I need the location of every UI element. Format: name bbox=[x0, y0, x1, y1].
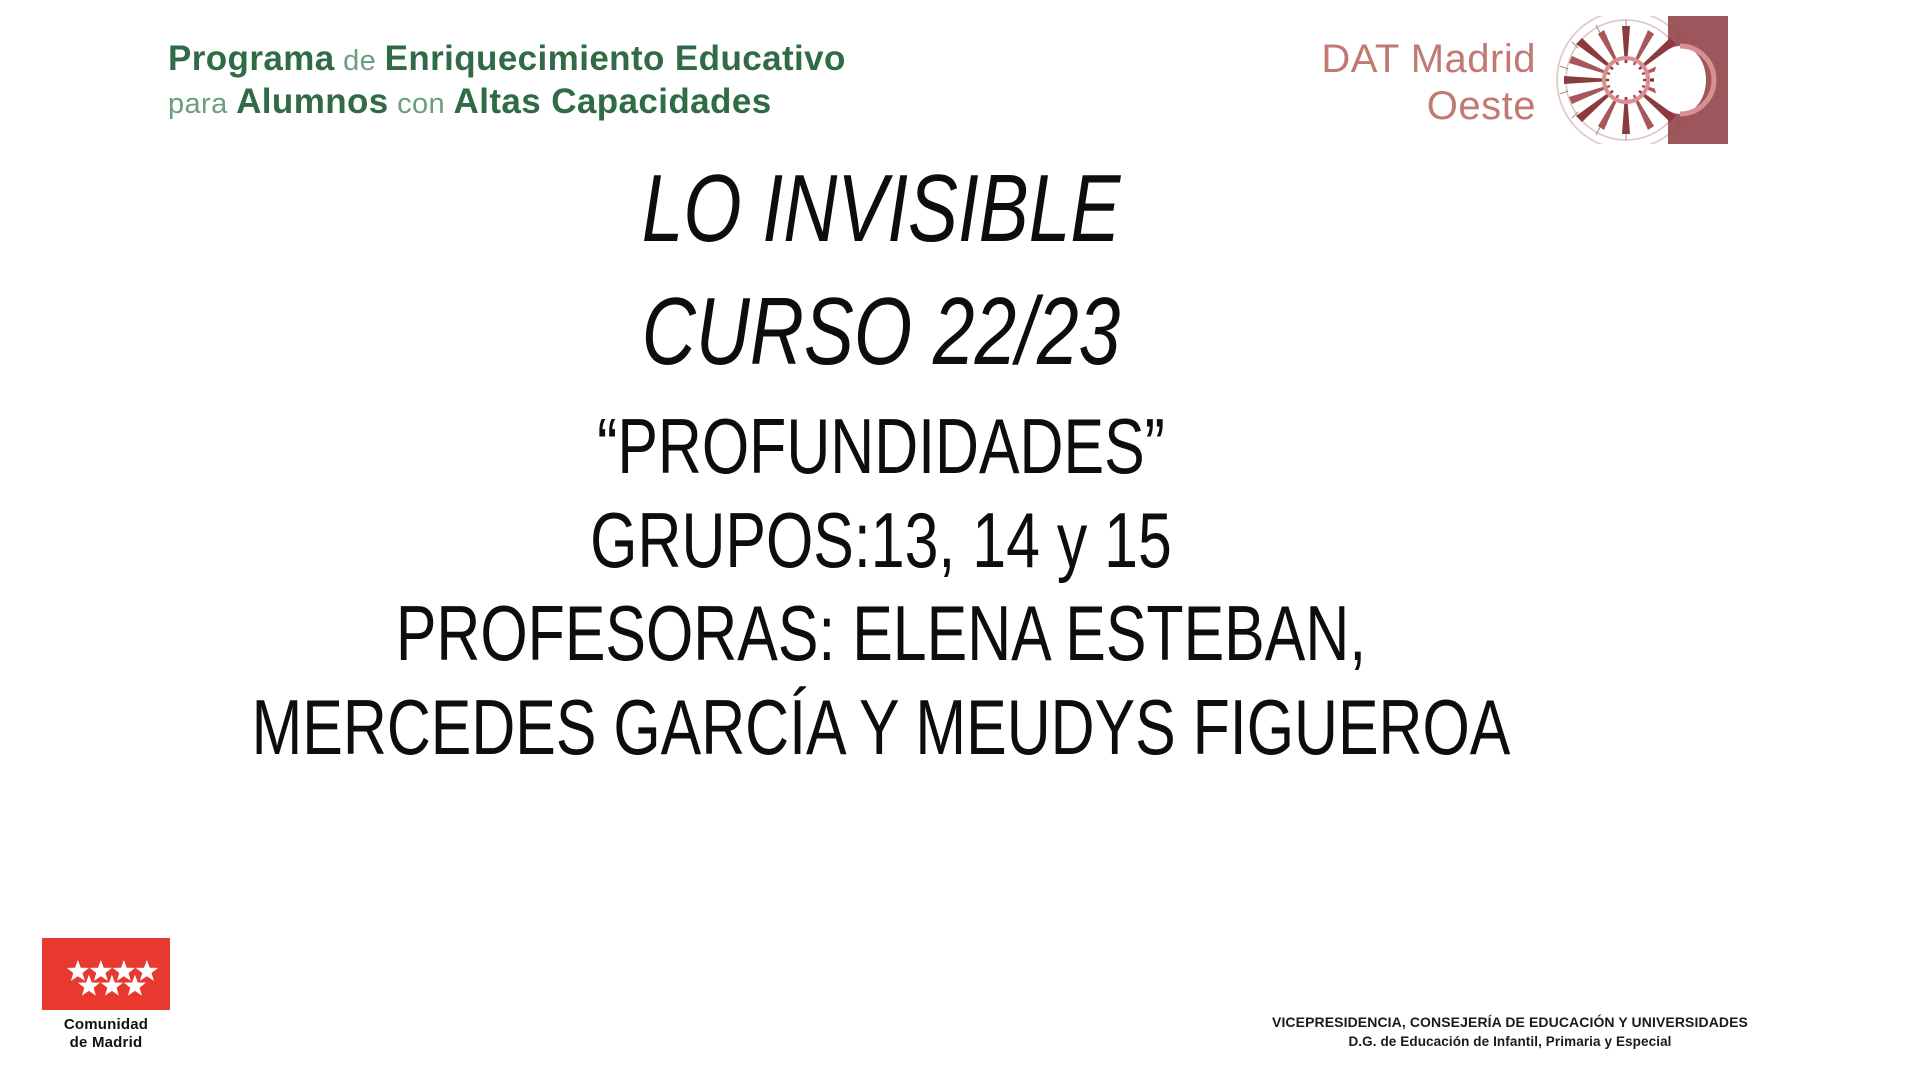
program-logo-word-para: para bbox=[168, 88, 236, 120]
comunidad-wordmark-line-1: Comunidad bbox=[42, 1016, 170, 1034]
dat-logo-line-1: DAT Madrid bbox=[1321, 37, 1536, 81]
title-line-nombres: MERCEDES GARCÍA Y MEUDYS FIGUEROA bbox=[194, 681, 1568, 775]
program-logo-word-alumnos: Alumnos bbox=[236, 82, 389, 121]
program-logo-line-2: para Alumnos con Altas Capacidades bbox=[168, 81, 998, 124]
dat-madrid-oeste-logo: DAT Madrid Oeste bbox=[1248, 16, 1728, 144]
header-band: Programa de Enriquecimiento Educativo pa… bbox=[0, 0, 1920, 170]
dat-logo-text: DAT Madrid Oeste bbox=[1248, 36, 1536, 130]
program-logo-word-enriquecimiento-educativo: Enriquecimiento Educativo bbox=[385, 39, 846, 78]
comunidad-wordmark-line-2: de Madrid bbox=[42, 1034, 170, 1052]
ministry-footer: VICEPRESIDENCIA, CONSEJERÍA DE EDUCACIÓN… bbox=[1160, 1012, 1860, 1052]
comunidad-de-madrid-logo: Comunidad de Madrid bbox=[42, 938, 174, 1051]
ministry-footer-line-1: VICEPRESIDENCIA, CONSEJERÍA DE EDUCACIÓN… bbox=[1160, 1012, 1860, 1032]
program-logo-word-con: con bbox=[389, 88, 454, 120]
title-line-profesoras: PROFESORAS: ELENA ESTEBAN, bbox=[194, 587, 1568, 681]
program-logo-word-programa: Programa bbox=[168, 39, 335, 78]
slide-title-block: LO INVISIBLE CURSO 22/23 “PROFUNDIDADES”… bbox=[0, 150, 1762, 775]
title-line-curso: CURSO 22/23 bbox=[194, 273, 1568, 390]
comunidad-de-madrid-wordmark: Comunidad de Madrid bbox=[42, 1016, 170, 1051]
compass-rose-icon bbox=[1548, 16, 1728, 144]
title-line-grupos: GRUPOS:13, 14 y 15 bbox=[194, 494, 1568, 588]
ministry-footer-line-2: D.G. de Educación de Infantil, Primaria … bbox=[1160, 1032, 1860, 1052]
title-line-profundidades: “PROFUNDIDADES” bbox=[194, 400, 1568, 494]
program-logo-word-de: de bbox=[335, 45, 385, 77]
title-line-lo-invisible: LO INVISIBLE bbox=[194, 150, 1568, 267]
program-enrichment-logo: Programa de Enriquecimiento Educativo pa… bbox=[168, 38, 998, 123]
program-logo-line-1: Programa de Enriquecimiento Educativo bbox=[168, 38, 998, 81]
program-logo-word-altas-capacidades: Altas Capacidades bbox=[454, 82, 772, 121]
dat-logo-line-2: Oeste bbox=[1248, 83, 1536, 130]
comunidad-de-madrid-flag bbox=[42, 938, 170, 1010]
